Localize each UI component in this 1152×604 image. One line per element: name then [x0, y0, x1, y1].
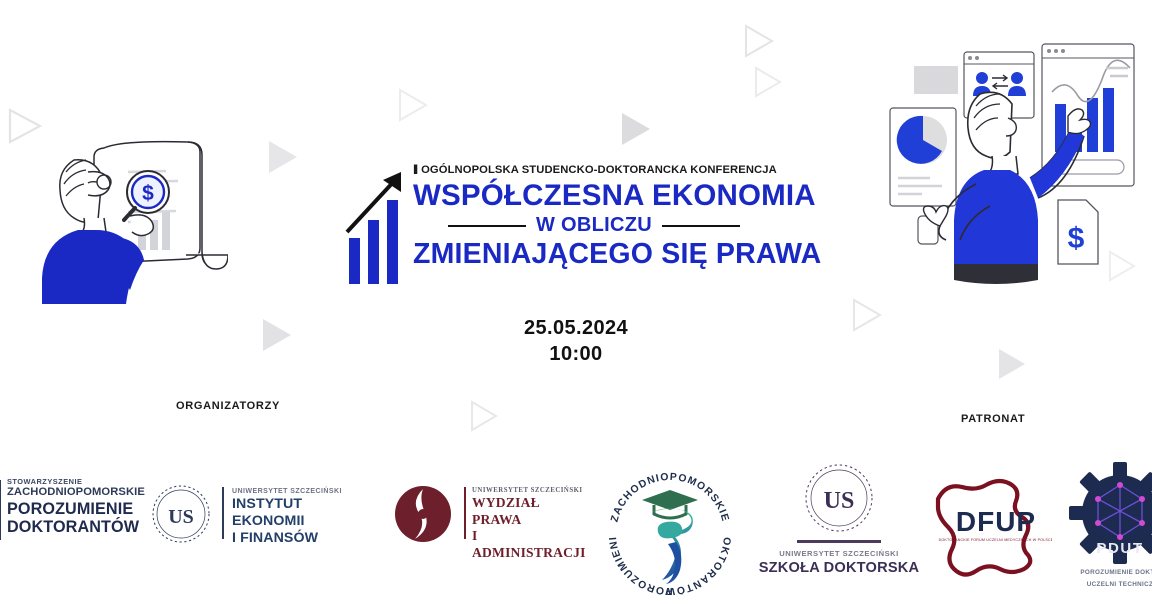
triangle-outline-icon: [754, 66, 782, 98]
triangle-outline-icon: [398, 88, 428, 122]
rule-right: [662, 225, 740, 228]
illustration-person-with-magnifier: $: [18, 120, 228, 305]
logo-wpia-small: UNIWERSYTET SZCZECIŃSKI: [472, 486, 586, 495]
dfup-wordmark: DFUP: [956, 506, 1036, 537]
logo-dfup: DFUP DOKTORANCKIE FORUM UCZELNI MEDYCZNY…: [912, 465, 1052, 581]
logo-pdut: PDUT POROZUMIENIE DOKTO UCZELNI TECHNICZ: [1062, 461, 1152, 589]
logo-szpd-rule: [0, 480, 1, 540]
triangle-filled-icon: [268, 140, 298, 174]
kicker-bars: ll: [413, 162, 416, 177]
logo-ief-line1: INSTYTUT EKONOMII: [232, 496, 362, 530]
logo-szpd: STOWARZYSZENIE ZACHODNIOPOMORSKIE POROZU…: [0, 477, 144, 537]
conference-poster: $: [0, 0, 1152, 604]
logo-sd-rule: [797, 540, 881, 543]
illustration-person-presenting-dashboards: $: [880, 20, 1142, 290]
event-datetime: 25.05.2024 10:00: [0, 316, 1152, 367]
gear-icon: PDUT: [1068, 461, 1152, 565]
logo-wpia-line1: WYDZIAŁ PRAWA: [472, 495, 586, 528]
logo-szpd-line1: STOWARZYSZENIE: [7, 477, 144, 486]
growth-chart-icon: [345, 166, 407, 284]
logo-sd-line1: SZKOŁA DOKTORSKA: [756, 559, 922, 577]
pdut-wordmark: PDUT: [1096, 540, 1143, 557]
triangle-outline-icon: [744, 24, 774, 58]
triangle-outline-icon: [470, 400, 498, 432]
triangle-filled-icon: [621, 112, 651, 146]
logo-szpd-line3: POROZUMIENIE: [7, 500, 144, 518]
event-date: 25.05.2024: [0, 316, 1152, 342]
svg-text:$: $: [1068, 222, 1085, 255]
organizers-label: ORGANIZATORZY: [176, 400, 280, 412]
title-text-group: ll OGÓLNOPOLSKA STUDENCKO-DOKTORANCKA KO…: [413, 162, 775, 269]
pdut-caption-line2: UCZELNI TECHNICZ: [1062, 580, 1152, 589]
svg-text:US: US: [824, 488, 855, 514]
logo-wpia-line2: I ADMINISTRACJI: [472, 528, 586, 561]
logo-sd-small: UNIWERSYTET SZCZECIŃSKI: [756, 549, 922, 559]
logo-zpd-circular: ZACHODNIOPOMORSKIE DOKTORANTÓW POROZUMIE…: [594, 460, 746, 595]
dfup-subtitle: DOKTORANCKIE FORUM UCZELNI MEDYCZNYCH W …: [939, 538, 1052, 542]
logo-szpd-line4: DOKTORANTÓW: [7, 518, 144, 536]
kicker-text: OGÓLNOPOLSKA STUDENCKO-DOKTORANCKA KONFE…: [421, 164, 777, 176]
title-line-2: W OBLICZU: [536, 214, 652, 237]
logo-ief-small: UNIWERSYTET SZCZECIŃSKI: [232, 487, 362, 496]
patronage-label: PATRONAT: [961, 413, 1025, 425]
pdut-caption-line1: POROZUMIENIE DOKTO: [1062, 568, 1152, 577]
logo-ief-divider: [222, 487, 224, 539]
logo-wpia-divider: [464, 487, 466, 539]
title-line-3: ZMIENIAJĄCEGO SIĘ PRAWA: [413, 239, 775, 269]
rule-left: [448, 225, 526, 228]
title-line-1: WSPÓŁCZESNA EKONOMIA: [413, 180, 775, 211]
event-time: 10:00: [0, 342, 1152, 368]
logo-row: STOWARZYSZENIE ZACHODNIOPOMORSKIE POROZU…: [0, 455, 1152, 604]
title-line-2-row: W OBLICZU: [413, 214, 775, 237]
wpia-emblem-icon: [392, 483, 454, 545]
us-seal-icon: US: [150, 483, 212, 545]
logo-szkola-doktorska: US UNIWERSYTET SZCZECIŃSKI SZKOŁA DOKTOR…: [756, 461, 922, 578]
kicker-line: ll OGÓLNOPOLSKA STUDENCKO-DOKTORANCKA KO…: [413, 162, 770, 177]
logo-ief-line2: I FINANSÓW: [232, 530, 362, 547]
logo-szpd-line2: ZACHODNIOPOMORSKIE: [7, 486, 144, 500]
svg-text:US: US: [168, 506, 194, 528]
us-seal-icon: US: [802, 461, 876, 535]
title-block: ll OGÓLNOPOLSKA STUDENCKO-DOKTORANCKA KO…: [345, 162, 775, 287]
svg-text:$: $: [142, 182, 154, 205]
